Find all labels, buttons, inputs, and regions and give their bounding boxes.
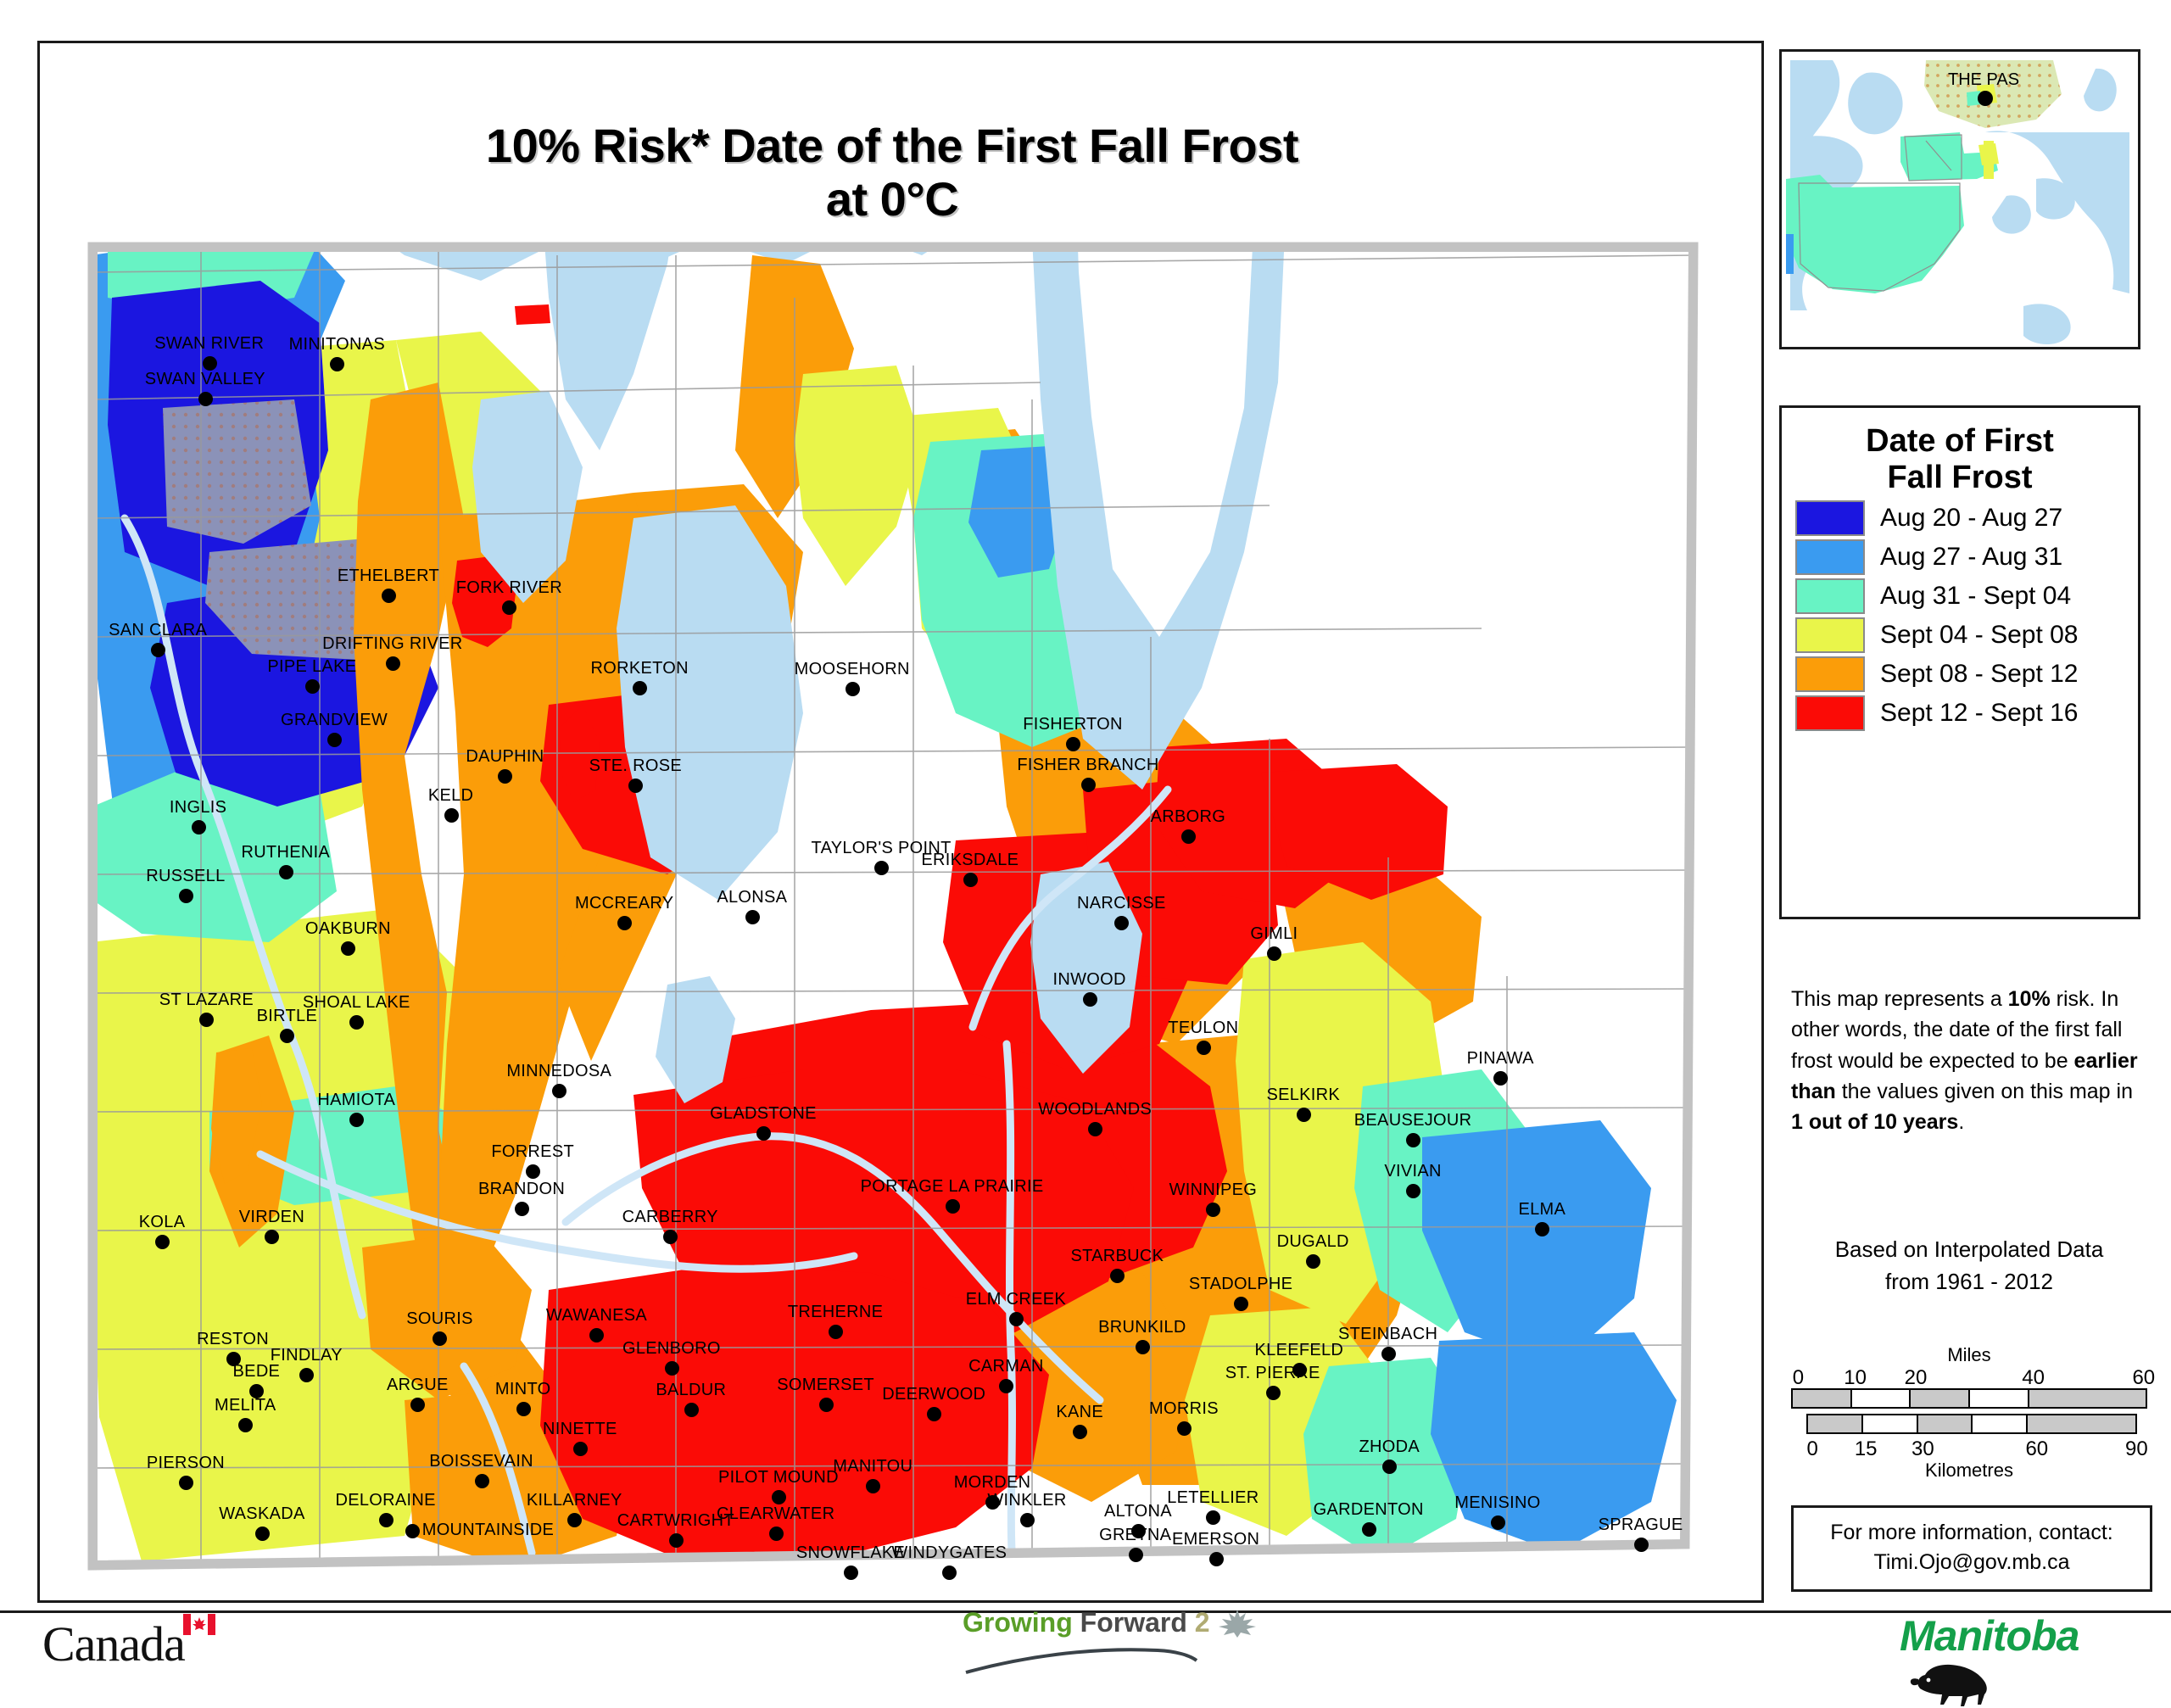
city-dot-icon <box>772 1490 786 1504</box>
city-label: KLEEFELD <box>1255 1341 1344 1360</box>
city-label: GRETNA <box>1099 1526 1171 1545</box>
city-label: ST. PIERRE <box>1225 1364 1320 1383</box>
city-label: STE. ROSE <box>589 756 682 776</box>
city-label: SOMERSET <box>777 1376 874 1395</box>
city-label: ARBORG <box>1151 807 1225 827</box>
city-label: KOLA <box>139 1213 186 1232</box>
manitoba-logo: Manitoba <box>1900 1611 2171 1708</box>
city-label: WINKLER <box>987 1491 1066 1510</box>
legend-swatch <box>1795 656 1865 692</box>
city-label: ARGUE <box>387 1376 449 1395</box>
city-dot-icon <box>819 1398 834 1412</box>
city-label: INGLIS <box>170 798 226 818</box>
city-label: STADOLPHE <box>1189 1275 1292 1294</box>
city-label: STEINBACH <box>1338 1325 1437 1344</box>
legend-item: Sept 04 - Sept 08 <box>1795 617 2138 653</box>
city-dot-icon <box>444 808 459 823</box>
scale-seg <box>1918 1415 1973 1432</box>
city-label: PORTAGE LA PRAIRIE <box>861 1177 1044 1197</box>
city-label: RUSSELL <box>146 867 225 886</box>
city-label: GARDENTON <box>1314 1500 1424 1520</box>
city-dot-icon <box>1382 1460 1397 1474</box>
city-dot-icon <box>1297 1108 1311 1122</box>
map-note: This map represents a 10% risk. In other… <box>1791 984 2147 1137</box>
legend-rows: Aug 20 - Aug 27Aug 27 - Aug 31Aug 31 - S… <box>1782 500 2138 731</box>
city-dot-icon <box>1129 1548 1143 1562</box>
bison-icon <box>1908 1661 1993 1708</box>
legend-swatch <box>1795 500 1865 536</box>
scale-tick-label: 60 <box>2132 1366 2155 1390</box>
city-label: FISHERTON <box>1023 715 1123 734</box>
city-label: GIMLI <box>1250 924 1298 944</box>
city-dot-icon <box>349 1015 364 1030</box>
data-source-line-2: from 1961 - 2012 <box>1791 1266 2147 1298</box>
city-label: ST LAZARE <box>159 991 254 1010</box>
city-dot-icon <box>552 1084 566 1098</box>
legend-item: Aug 31 - Sept 04 <box>1795 578 2138 614</box>
city-dot-icon <box>1634 1538 1649 1552</box>
city-label: MORRIS <box>1149 1399 1219 1419</box>
city-label: CARBERRY <box>622 1208 718 1227</box>
scale-km-bar <box>1806 1414 2137 1434</box>
city-label: BRUNKILD <box>1098 1318 1186 1337</box>
city-dot-icon <box>684 1403 699 1417</box>
scale-km-ticks: 015306090 <box>1791 1437 2147 1460</box>
legend-item: Aug 20 - Aug 27 <box>1795 500 2138 536</box>
city-label: MINITONAS <box>289 335 385 354</box>
city-dot-icon <box>573 1442 588 1456</box>
note-text-f: 1 out of 10 years <box>1791 1110 1958 1134</box>
city-dot-icon <box>1009 1312 1024 1326</box>
city-label: RESTON <box>197 1330 269 1349</box>
legend-label: Aug 20 - Aug 27 <box>1880 504 2062 533</box>
note-text-e: the values given on this map in <box>1836 1080 2133 1103</box>
note-text-a: This map represents a <box>1791 987 2008 1011</box>
growing-forward-2-logo: Growing Forward 2 <box>963 1607 1217 1680</box>
legend-swatch <box>1795 695 1865 731</box>
city-dot-icon <box>279 865 293 879</box>
legend-label: Sept 04 - Sept 08 <box>1880 621 2079 650</box>
city-dot-icon <box>756 1126 771 1141</box>
city-label: PIPE LAKE <box>267 657 356 677</box>
city-dot-icon <box>1197 1041 1211 1055</box>
legend-label: Aug 31 - Sept 04 <box>1880 582 2071 611</box>
inset-label-the-pas: THE PAS <box>1948 70 2019 90</box>
city-dot-icon <box>665 1361 679 1376</box>
city-dot-icon <box>238 1418 253 1432</box>
city-label: RORKETON <box>591 659 689 678</box>
city-dot-icon <box>203 356 217 371</box>
city-label: FISHER BRANCH <box>1017 756 1158 775</box>
city-dot-icon <box>382 589 396 603</box>
scale-bar: Miles 010204060 015306090 Kilometres <box>1791 1344 2147 1482</box>
scale-tick-label: 0 <box>1807 1437 1818 1461</box>
contact-line-1: For more information, contact: <box>1794 1518 2150 1548</box>
gf2-wordmark: Growing Forward 2 <box>963 1607 1217 1638</box>
legend-item: Sept 08 - Sept 12 <box>1795 656 2138 692</box>
city-label: WASKADA <box>219 1504 304 1524</box>
city-label: SWAN RIVER <box>154 334 264 354</box>
manitoba-wordmark: Manitoba <box>1900 1612 2079 1660</box>
legend-title-line-1: Date of First <box>1866 423 2054 459</box>
city-label: MOUNTAINSIDE <box>422 1521 554 1540</box>
city-label: KANE <box>1056 1403 1103 1422</box>
city-label: WAWANESA <box>546 1306 647 1326</box>
city-label: SHOAL LAKE <box>303 993 410 1013</box>
scale-tick-label: 10 <box>1844 1366 1867 1390</box>
scale-tick-label: 20 <box>1905 1366 1928 1390</box>
city-label: SPRAGUE <box>1599 1515 1683 1535</box>
city-dot-icon <box>1083 992 1097 1007</box>
city-label: RUTHENIA <box>241 843 330 862</box>
gf2-forward: Forward <box>1080 1607 1187 1638</box>
legend-swatch <box>1795 578 1865 614</box>
gf2-two: 2 <box>1195 1607 1210 1638</box>
city-dot-icon <box>475 1474 489 1488</box>
scale-seg <box>1808 1415 1863 1432</box>
city-dot-icon <box>199 1013 214 1027</box>
map-page: 10% Risk* Date of the First Fall Frost a… <box>0 0 2171 1678</box>
page-title: 10% Risk* Date of the First Fall Frost a… <box>362 120 1422 226</box>
scale-tick-label: 0 <box>1793 1366 1804 1390</box>
city-dot-icon <box>1306 1254 1320 1269</box>
city-label: SAN CLARA <box>109 621 207 640</box>
legend-panel: Date of First Fall Frost Aug 20 - Aug 27… <box>1779 405 2140 919</box>
city-dot-icon <box>589 1328 604 1342</box>
city-dot-icon <box>255 1527 270 1541</box>
city-label: LETELLIER <box>1167 1488 1259 1508</box>
city-label: BOISSEVAIN <box>429 1452 533 1471</box>
city-label: ZHODA <box>1359 1437 1420 1457</box>
city-label: DAUPHIN <box>466 747 544 767</box>
scale-seg <box>1852 1390 1911 1407</box>
city-dot-icon <box>1114 916 1129 930</box>
scale-seg <box>1793 1390 1852 1407</box>
city-label: VIRDEN <box>239 1208 304 1227</box>
city-dot-icon <box>846 682 860 696</box>
city-dot-icon <box>280 1029 294 1043</box>
legend-item: Aug 27 - Aug 31 <box>1795 539 2138 575</box>
city-label: NINETTE <box>543 1420 617 1439</box>
city-label: ETHELBERT <box>338 567 439 586</box>
city-label: MORDEN <box>954 1473 1031 1493</box>
city-label: ALONSA <box>717 888 787 907</box>
legend-title-line-2: Fall Frost <box>1887 460 2032 495</box>
city-label: PILOT MOUND <box>718 1468 839 1488</box>
city-label: KELD <box>428 786 473 806</box>
city-label: GLADSTONE <box>710 1104 817 1124</box>
city-label: BIRTLE <box>257 1007 317 1026</box>
city-label: ELMA <box>1518 1200 1565 1220</box>
city-dot-icon <box>946 1199 960 1214</box>
city-label: SNOWFLAKE <box>796 1543 905 1563</box>
scale-miles-ticks: 010204060 <box>1791 1366 2147 1388</box>
city-label: CLEARWATER <box>717 1504 834 1524</box>
title-line-1: 10% Risk* Date of the First Fall Frost <box>362 120 1422 173</box>
city-label: PINAWA <box>1467 1049 1534 1069</box>
city-dot-icon <box>502 600 516 615</box>
scale-tick-label: 60 <box>2025 1437 2048 1461</box>
city-label: BRANDON <box>478 1180 565 1199</box>
city-dot-icon <box>386 656 400 671</box>
city-label: BALDUR <box>656 1381 726 1400</box>
city-label: FINDLAY <box>271 1346 343 1365</box>
city-dot-icon <box>516 1402 531 1416</box>
city-label: DELORAINE <box>335 1491 435 1510</box>
city-dot-icon <box>526 1164 540 1179</box>
city-label: WOODLANDS <box>1038 1100 1152 1119</box>
legend-swatch <box>1795 617 1865 653</box>
city-label: GLENBORO <box>622 1339 721 1359</box>
note-text-b: 10% <box>2008 987 2051 1011</box>
scale-tick-label: 15 <box>1855 1437 1878 1461</box>
city-dot-icon <box>669 1533 684 1548</box>
data-source-note: Based on Interpolated Data from 1961 - 2… <box>1791 1234 2147 1298</box>
city-label: DRIFTING RIVER <box>322 634 462 654</box>
contact-box: For more information, contact: Timi.Ojo@… <box>1791 1505 2152 1592</box>
city-dot-icon <box>515 1202 529 1216</box>
city-label: CARMAN <box>968 1357 1043 1376</box>
scale-tick-label: 90 <box>2125 1437 2148 1461</box>
legend-label: Aug 27 - Aug 31 <box>1880 543 2062 572</box>
city-dot-icon <box>379 1513 393 1527</box>
city-label: MOOSEHORN <box>795 660 910 679</box>
city-dot-icon <box>405 1524 420 1538</box>
city-dot-icon <box>1209 1552 1224 1566</box>
city-dot-icon <box>179 889 193 903</box>
scale-seg <box>2029 1390 2146 1407</box>
title-line-2: at 0°C <box>362 173 1422 226</box>
inset-map-the-pas[interactable]: THE PAS <box>1779 49 2140 349</box>
city-dot-icon <box>844 1566 858 1580</box>
legend-swatch <box>1795 539 1865 575</box>
city-label: MANITOU <box>833 1457 912 1476</box>
city-dot-icon <box>305 679 320 694</box>
city-dot-icon <box>1081 778 1096 792</box>
city-label: OAKBURN <box>305 919 391 939</box>
city-dot-icon <box>1266 1386 1281 1400</box>
city-dot-icon <box>633 681 647 695</box>
city-dot-icon <box>1020 1513 1035 1527</box>
city-label: MINNEDOSA <box>506 1062 611 1081</box>
city-label: EMERSON <box>1172 1530 1259 1549</box>
city-label: NARCISSE <box>1077 894 1166 913</box>
city-dot-icon <box>1136 1340 1150 1354</box>
city-label: DUGALD <box>1277 1232 1349 1252</box>
scale-tick-label: 40 <box>2022 1366 2045 1390</box>
city-label: SELKIRK <box>1266 1086 1340 1105</box>
city-dot-icon <box>1381 1347 1396 1361</box>
scale-seg <box>1911 1390 1970 1407</box>
scale-tick-label: 30 <box>1911 1437 1934 1461</box>
inset-map-graphic <box>1782 52 2138 347</box>
canada-wordmark: Canada <box>42 1616 185 1672</box>
city-dot-icon <box>1535 1222 1549 1236</box>
gf2-growing: Growing <box>963 1607 1073 1638</box>
city-label: BEDE <box>233 1362 281 1381</box>
city-label: FORK RIVER <box>456 578 562 598</box>
city-dot-icon <box>192 820 206 834</box>
frost-zone-layer <box>40 43 1761 1600</box>
scale-seg <box>1863 1415 1918 1432</box>
city-label: HAMIOTA <box>317 1091 395 1110</box>
city-label: FORREST <box>491 1142 574 1162</box>
contact-email[interactable]: Timi.Ojo@gov.mb.ca <box>1794 1548 2150 1577</box>
city-label: DEERWOOD <box>882 1385 985 1404</box>
city-label: BEAUSEJOUR <box>1354 1111 1472 1130</box>
city-dot-icon <box>769 1527 784 1541</box>
canada-flag-icon <box>183 1614 215 1635</box>
city-label: ELM CREEK <box>966 1290 1066 1309</box>
city-label: MELITA <box>215 1396 276 1415</box>
city-label: VIVIAN <box>1384 1162 1441 1181</box>
city-label: GRANDVIEW <box>281 711 388 730</box>
city-dot-icon <box>1073 1425 1087 1439</box>
city-label: SOURIS <box>406 1309 472 1329</box>
city-label: MCCREARY <box>575 894 674 913</box>
legend-title: Date of First Fall Frost <box>1782 423 2138 495</box>
city-label: ERIKSDALE <box>921 851 1019 870</box>
legend-item: Sept 12 - Sept 16 <box>1795 695 2138 731</box>
city-label: MINTO <box>495 1380 551 1399</box>
city-label: PIERSON <box>147 1454 225 1473</box>
scale-miles-bar <box>1791 1388 2147 1409</box>
gf2-swoosh-icon <box>963 1638 1217 1676</box>
city-dot-icon <box>1491 1515 1505 1530</box>
scale-seg <box>2028 1415 2135 1432</box>
legend-label: Sept 08 - Sept 12 <box>1880 660 2079 689</box>
maple-leaf-icon <box>1217 1608 1258 1638</box>
city-label: WINDYGATES <box>891 1543 1007 1563</box>
city-label: SWAN VALLEY <box>145 370 265 389</box>
city-label: STARBUCK <box>1070 1247 1164 1266</box>
city-label: ALTONA <box>1104 1502 1172 1521</box>
city-dot-icon <box>942 1566 957 1580</box>
data-source-line-1: Based on Interpolated Data <box>1791 1234 2147 1266</box>
city-dot-icon <box>874 861 889 875</box>
city-dot-icon <box>1362 1522 1376 1537</box>
scale-seg <box>1970 1390 2029 1407</box>
city-label: WINNIPEG <box>1169 1181 1258 1200</box>
scale-km-caption: Kilometres <box>1791 1460 2147 1482</box>
city-dot-icon <box>617 916 632 930</box>
note-text-g: . <box>1958 1110 1964 1134</box>
city-label: INWOOD <box>1053 970 1126 990</box>
city-label: TREHERNE <box>788 1303 883 1322</box>
city-dot-icon <box>179 1476 193 1490</box>
city-label: KILLARNEY <box>527 1491 622 1510</box>
city-label: TEULON <box>1168 1019 1238 1038</box>
scale-miles-caption: Miles <box>1791 1344 2147 1366</box>
main-map-panel[interactable]: 10% Risk* Date of the First Fall Frost a… <box>37 41 1764 1603</box>
legend-label: Sept 12 - Sept 16 <box>1880 699 2079 728</box>
city-dot-icon <box>963 873 978 887</box>
scale-seg <box>1973 1415 2028 1432</box>
city-label: MENISINO <box>1454 1493 1540 1513</box>
